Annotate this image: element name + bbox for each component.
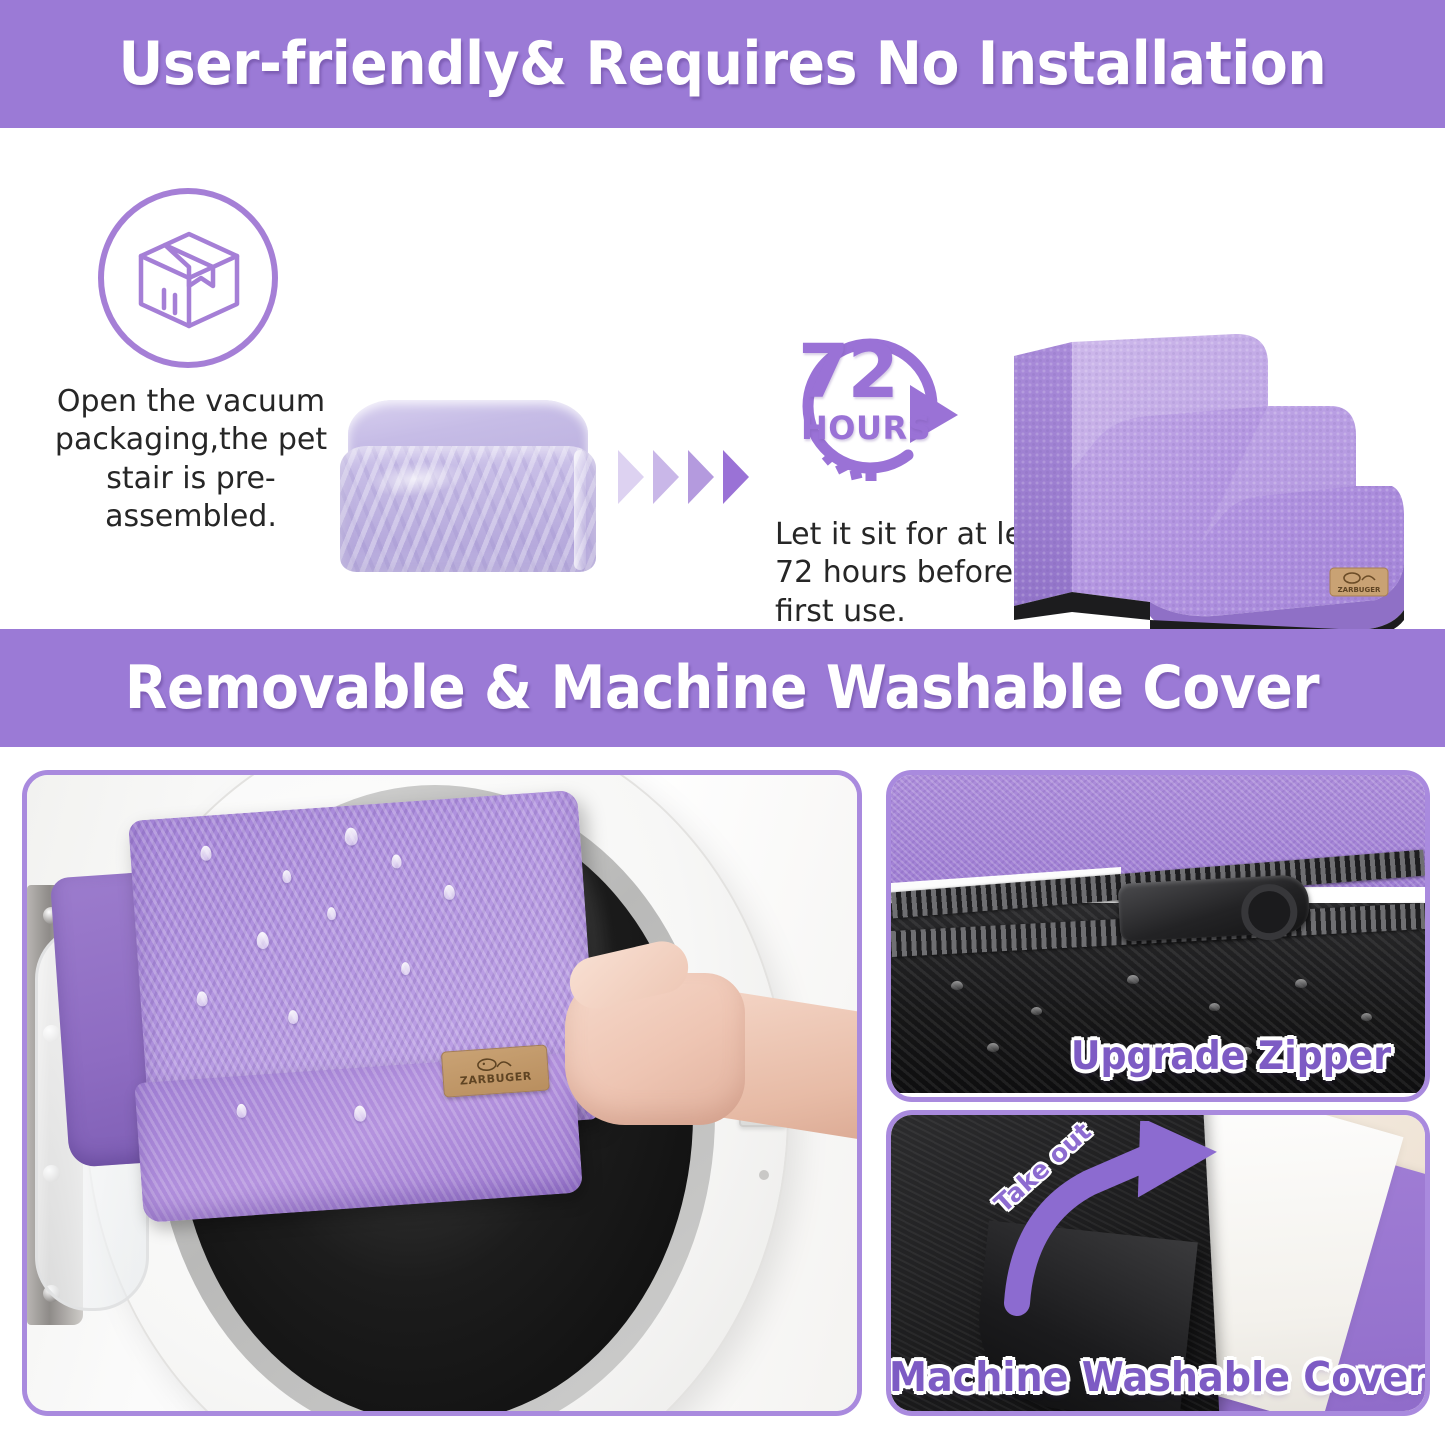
chevron-right-icon [618, 450, 644, 504]
seventy-two-hours-badge: 72 HOURS [782, 323, 962, 488]
header-banner-top-text: User-friendly& Requires No Installation [119, 29, 1327, 99]
cover-caption: Machine Washable Cover [889, 1353, 1427, 1401]
svg-text:ZARBUGER: ZARBUGER [1338, 586, 1381, 594]
zipper-detail-panel: Upgrade Zipper [886, 770, 1430, 1102]
brand-label-tag: ZARBUGER [441, 1044, 550, 1097]
removable-cover-panel: Take out Machine Washable Cover [886, 1110, 1430, 1416]
water-droplet [987, 1043, 999, 1052]
washing-machine-panel: ZARBUGER [22, 770, 862, 1416]
step-1-caption: Open the vacuum packaging,the pet stair … [36, 383, 346, 537]
badge-number: 72 [798, 335, 897, 409]
zipper-slider [1118, 874, 1311, 942]
package-seam [574, 450, 586, 570]
header-banner-bottom-text: Removable & Machine Washable Cover [125, 653, 1319, 723]
vacuum-package-image [338, 400, 600, 580]
hand-holding-cover [547, 943, 847, 1213]
brand-name: ZARBUGER [459, 1070, 532, 1088]
washable-cover-section: ZARBUGER Upgrade Zipper [0, 747, 1445, 1431]
water-droplet [951, 981, 963, 990]
pet-stairs-product-image: ZARBUGER [1000, 320, 1410, 640]
chevron-right-icon [723, 450, 749, 504]
badge-unit: HOURS [801, 412, 931, 444]
chevron-right-icon [653, 450, 679, 504]
water-droplet [1031, 1007, 1042, 1015]
water-droplet [1209, 1003, 1220, 1011]
zipper-caption: Upgrade Zipper [1071, 1034, 1391, 1079]
installation-section: Open the vacuum packaging,the pet stair … [0, 128, 1445, 629]
water-droplet [1361, 1013, 1372, 1021]
package-box-icon [98, 188, 278, 368]
header-banner-top: User-friendly& Requires No Installation [0, 0, 1445, 128]
water-droplet [1127, 975, 1139, 984]
folded-cover: ZARBUGER [128, 790, 600, 1151]
pet-stairs-graphic: ZARBUGER [1000, 320, 1410, 640]
box-glyph [131, 224, 247, 336]
water-droplet [1295, 979, 1307, 988]
chevron-right-icon [688, 450, 714, 504]
flow-arrow-chevrons [618, 450, 749, 504]
header-banner-bottom: Removable & Machine Washable Cover [0, 629, 1445, 747]
